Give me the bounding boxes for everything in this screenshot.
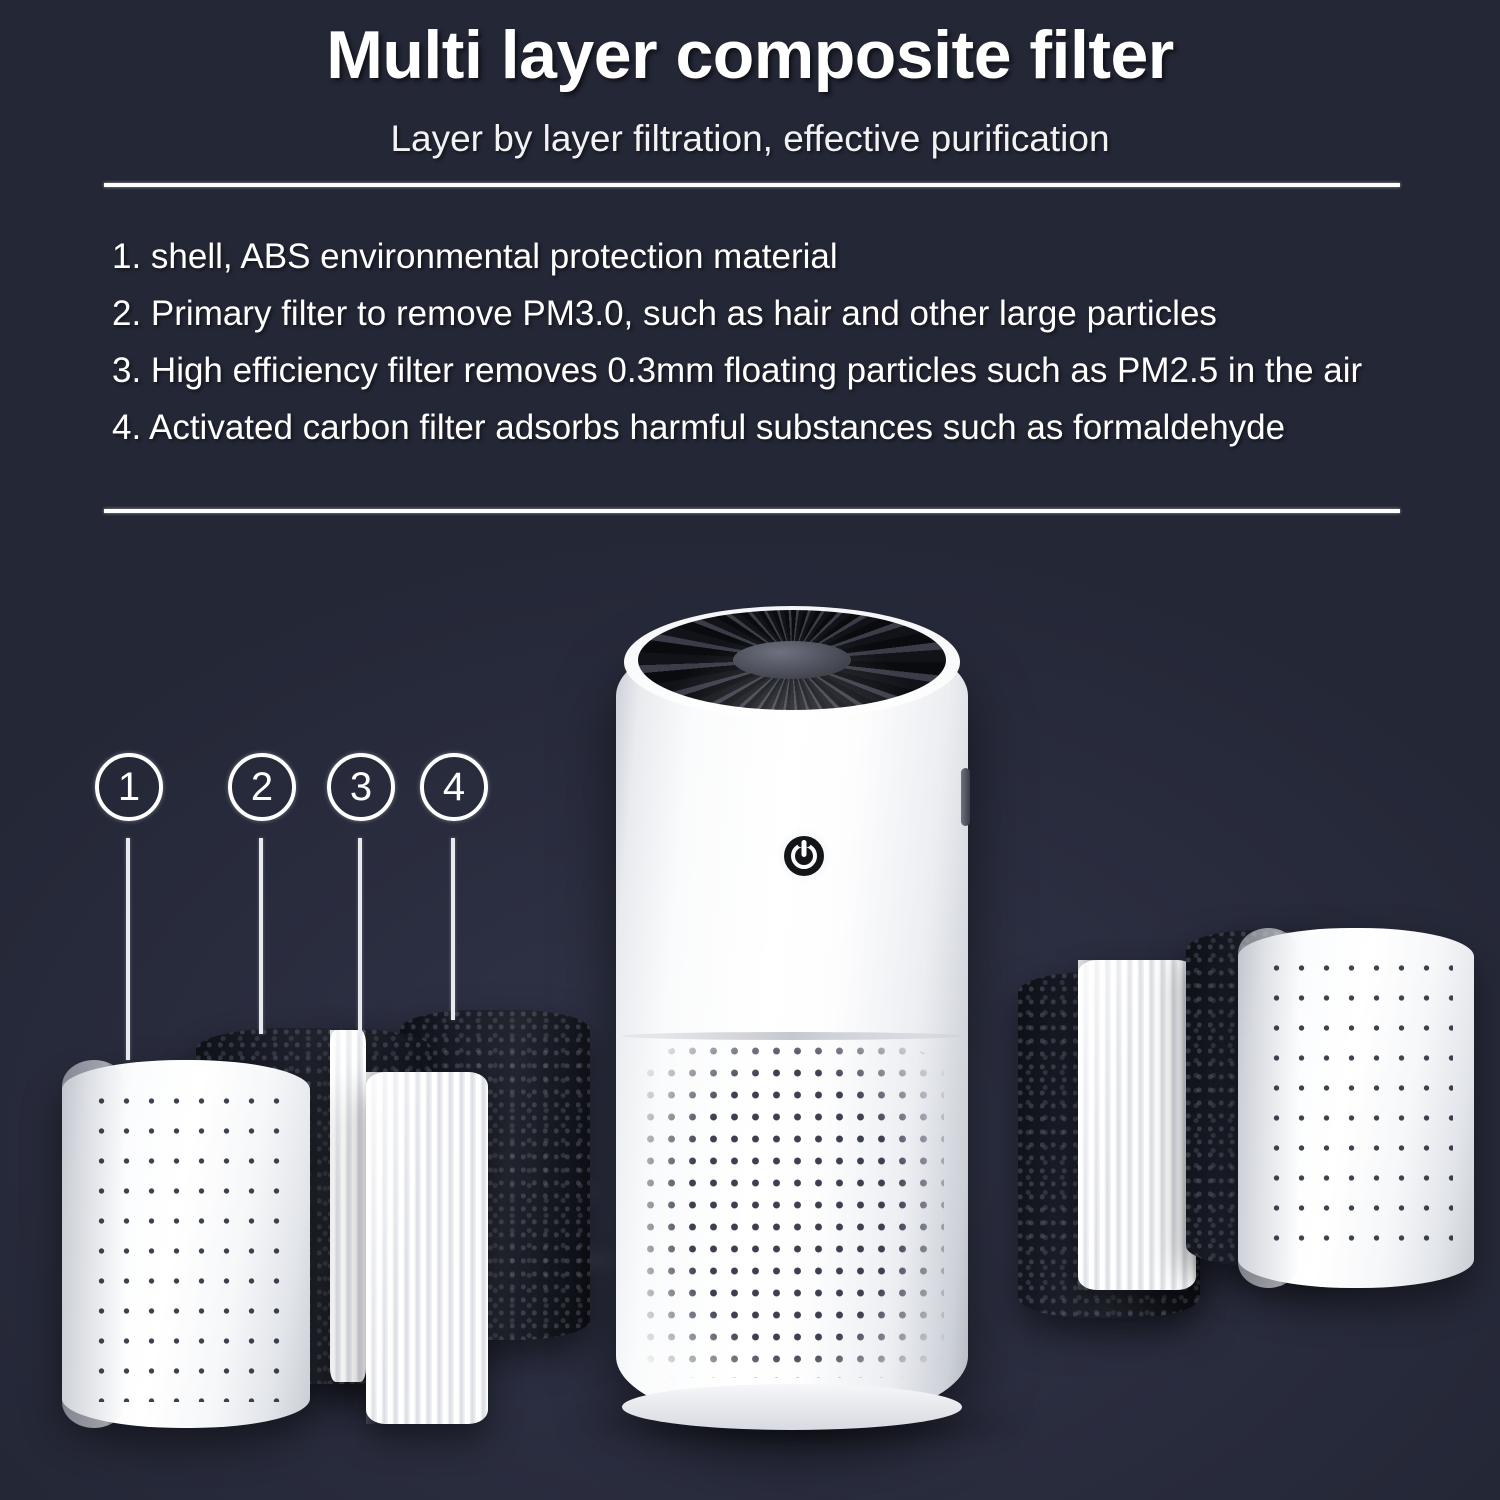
callout-marker-1: 1: [95, 753, 163, 821]
feature-item-4: 4. Activated carbon filter adsorbs harmf…: [112, 399, 1442, 456]
feature-list: 1. shell, ABS environmental protection m…: [112, 228, 1442, 456]
callout-leader-1: [126, 838, 130, 1060]
divider-bottom: [104, 509, 1400, 513]
part-shell-left: [62, 1060, 310, 1428]
callout-number: 4: [443, 765, 465, 810]
fan-hub: [733, 641, 851, 679]
pleat-highlight: [366, 1072, 488, 1424]
side-button[interactable]: [961, 768, 970, 826]
part-high-efficiency-filter-left-face: [366, 1072, 488, 1424]
divider-top: [104, 183, 1400, 187]
callout-marker-4: 4: [420, 753, 488, 821]
callout-leader-2: [259, 838, 263, 1034]
callout-leader-4: [451, 838, 455, 1020]
page-title: Multi layer composite filter: [0, 16, 1500, 94]
power-icon-stem: [802, 840, 807, 857]
pleat-highlight: [1078, 960, 1196, 1290]
callout-number: 3: [350, 765, 372, 810]
device-air-outlet-grille: [634, 1036, 950, 1392]
device-grille-perforations: [640, 1040, 944, 1378]
page-subtitle: Layer by layer filtration, effective pur…: [0, 118, 1500, 160]
callout-marker-3: 3: [327, 753, 395, 821]
pleat-highlight: [330, 1030, 366, 1382]
callout-number: 2: [251, 765, 273, 810]
fan-grille-icon: [638, 610, 946, 710]
part-shell-right: [1238, 928, 1474, 1288]
device-base: [622, 1384, 962, 1430]
power-button[interactable]: [776, 828, 832, 884]
shell-perforations: [89, 1086, 287, 1403]
callout-leader-3: [358, 838, 362, 1036]
product-infographic: Multi layer composite filter Layer by la…: [0, 0, 1500, 1500]
feature-item-3: 3. High efficiency filter removes 0.3mm …: [112, 342, 1442, 399]
part-high-efficiency-filter-left: [330, 1030, 366, 1382]
shell-perforations: [1264, 953, 1453, 1263]
callout-number: 1: [118, 765, 140, 810]
feature-item-1: 1. shell, ABS environmental protection m…: [112, 228, 1442, 285]
air-purifier-device: [616, 596, 968, 1426]
part-high-efficiency-filter-right: [1078, 960, 1196, 1290]
feature-item-2: 2. Primary filter to remove PM3.0, such …: [112, 285, 1442, 342]
callout-marker-2: 2: [228, 753, 296, 821]
